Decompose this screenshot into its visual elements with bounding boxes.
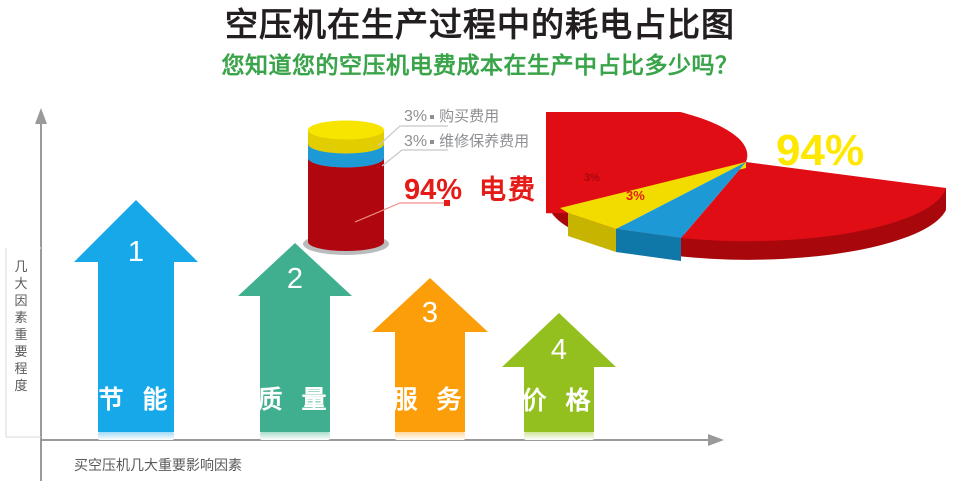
pie-center-label: 94% xyxy=(776,126,864,176)
y-axis-label: 几大因素重要程度 xyxy=(10,258,32,394)
callout-maintenance-label: 维修保养费用 xyxy=(439,133,529,150)
callout-electricity-cost: 94%电费 xyxy=(404,168,537,207)
callout-purchase-cost: 3%购买费用 xyxy=(404,105,499,126)
factor-rank-1: 1 xyxy=(116,236,156,269)
factor-arrow-3[interactable]: 3 服 务 xyxy=(372,278,488,432)
callout-purchase-pct: 3% xyxy=(404,108,427,125)
factor-label-4: 价 格 xyxy=(504,381,614,417)
factor-arrow-2[interactable]: 2 质 量 xyxy=(238,243,352,432)
factor-reflection-1 xyxy=(98,432,174,440)
callout-bullet-icon xyxy=(430,115,434,119)
factor-arrow-4[interactable]: 4 价 格 xyxy=(502,313,616,432)
factor-reflection-4 xyxy=(524,432,594,440)
pie-slice-label-yellow: 3% xyxy=(584,172,600,184)
factor-arrow-1[interactable]: 1 节 能 xyxy=(74,200,198,432)
callout-maintenance-cost: 3%维修保养费用 xyxy=(404,130,529,151)
x-axis-label: 买空压机几大重要影响因素 xyxy=(74,455,242,475)
factor-reflection-3 xyxy=(395,432,465,440)
pie-chart: 94% 3% 3% xyxy=(546,112,950,269)
factor-reflection-2 xyxy=(260,432,330,440)
factor-rank-3: 3 xyxy=(410,297,450,330)
callout-purchase-label: 购买费用 xyxy=(439,108,499,125)
callout-electricity-label: 电费 xyxy=(479,175,537,205)
callout-electricity-pct: 94% xyxy=(404,174,462,206)
callout-bullet-icon xyxy=(430,140,434,144)
pie-slice-label-blue: 3% xyxy=(626,188,645,203)
factor-label-3: 服 务 xyxy=(374,380,486,416)
factor-label-1: 节 能 xyxy=(76,380,196,416)
factor-label-2: 质 量 xyxy=(240,380,350,416)
infographic-canvas: 空压机在生产过程中的耗电占比图 您知道您的空压机电费成本在生产中占比多少吗？ 几… xyxy=(0,0,960,483)
factor-rank-2: 2 xyxy=(275,263,315,296)
callout-maintenance-pct: 3% xyxy=(404,133,427,150)
cylinder-chart xyxy=(296,118,404,263)
factor-rank-4: 4 xyxy=(539,334,579,367)
